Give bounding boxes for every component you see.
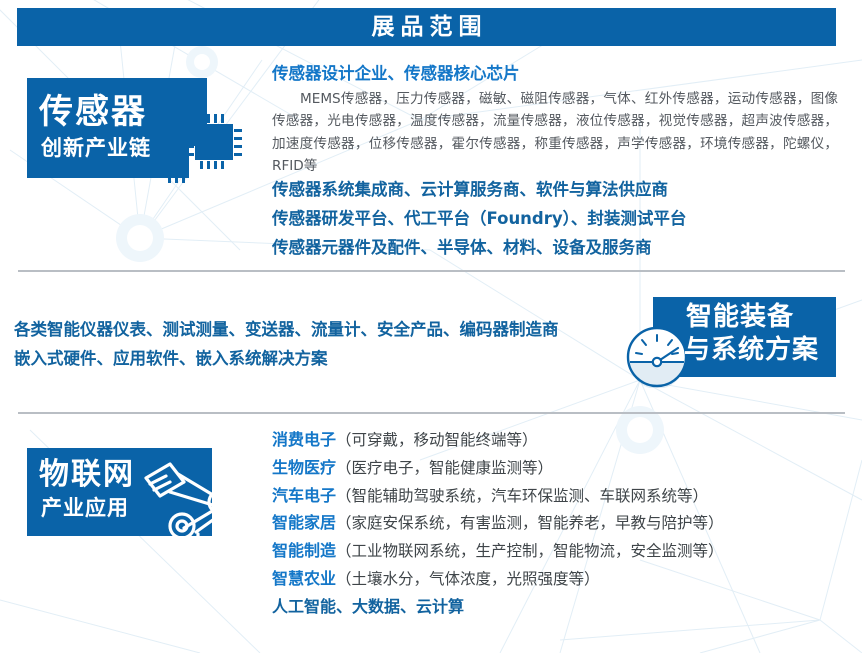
iot-item-1-category: 生物医疗 [272, 458, 336, 477]
sensor-section-paragraph-wrap: MEMS传感器，压力传感器，磁敏、磁阻传感器，气体、红外传感器，运动传感器，图像… [272, 88, 838, 177]
iot-item-3-detail: （家庭安保系统，有害监测，智能养老，早教与陪护等） [336, 514, 724, 532]
badge-sensor-line2: 创新产业链 [41, 138, 151, 159]
iot-item-1: 生物医疗（医疗电子，智能健康监测等） [272, 456, 724, 481]
iot-section-lines: 消费电子（可穿戴，移动智能终端等） 生物医疗（医疗电子，智能健康监测等） 汽车电… [272, 428, 724, 623]
iot-item-0-detail: （可穿戴，移动智能终端等） [336, 431, 538, 449]
section-divider-2 [18, 412, 845, 414]
gauge-icon [626, 326, 688, 393]
badge-equipment-line2: 与系统方案 [684, 337, 819, 363]
iot-item-1-detail: （医疗电子，智能健康监测等） [336, 459, 553, 477]
page-header-bar: 展品范围 [17, 8, 836, 46]
sensor-line-2: 传感器研发平台、代工平台（Foundry）、封装测试平台 [272, 207, 686, 232]
iot-item-2-category: 汽车电子 [272, 486, 336, 505]
iot-item-2-detail: （智能辅助驾驶系统，汽车环保监测、车联网系统等） [336, 487, 708, 505]
equipment-line-1: 各类智能仪器仪表、测试测量、变送器、流量计、安全产品、编码器制造商 [14, 318, 559, 343]
sensor-line-3: 传感器元器件及配件、半导体、材料、设备及服务商 [272, 236, 686, 261]
page-title: 展品范围 [366, 16, 488, 39]
badge-iot-line2: 产业应用 [41, 498, 129, 519]
iot-item-5-detail: （土壤水分，气体浓度，光照强度等） [336, 570, 600, 588]
iot-item-3-category: 智能家居 [272, 513, 336, 532]
badge-sensor: 传感器 创新产业链 [27, 78, 247, 183]
badge-iot: 物联网 产业应用 [27, 448, 242, 553]
microchip-icon [159, 106, 245, 189]
sensor-section-heading: 传感器设计企业、传感器核心芯片 [272, 62, 520, 86]
badge-equipment-line1: 智能装备 [686, 304, 794, 330]
equipment-section-lines: 各类智能仪器仪表、测试测量、变送器、流量计、安全产品、编码器制造商 嵌入式硬件、… [14, 318, 559, 376]
exhibit-scope-poster: 展品范围 [0, 0, 862, 653]
sensor-section-heading-wrap: 传感器设计企业、传感器核心芯片 [272, 62, 520, 86]
iot-item-4-category: 智能制造 [272, 541, 336, 560]
iot-item-4: 智能制造（工业物联网系统，生产控制，智能物流，安全监测等） [272, 539, 724, 564]
iot-item-5: 智慧农业（土壤水分，气体浓度，光照强度等） [272, 567, 724, 592]
badge-equipment: 智能装备 与系统方案 [626, 290, 841, 390]
robot-arm-icon [140, 454, 240, 554]
section-divider-1 [18, 270, 845, 272]
iot-item-0: 消费电子（可穿戴，移动智能终端等） [272, 428, 724, 453]
iot-item-6-category: 人工智能、大数据、云计算 [272, 597, 464, 616]
iot-item-4-detail: （工业物联网系统，生产控制，智能物流，安全监测等） [336, 542, 724, 560]
equipment-line-2: 嵌入式硬件、应用软件、嵌入系统解决方案 [14, 347, 559, 372]
sensor-section-paragraph: MEMS传感器，压力传感器，磁敏、磁阻传感器，气体、红外传感器，运动传感器，图像… [272, 88, 838, 177]
iot-item-0-category: 消费电子 [272, 430, 336, 449]
iot-item-6: 人工智能、大数据、云计算 [272, 595, 724, 620]
sensor-line-1: 传感器系统集成商、云计算服务商、软件与算法供应商 [272, 178, 686, 203]
sensor-section-lines: 传感器系统集成商、云计算服务商、软件与算法供应商 传感器研发平台、代工平台（Fo… [272, 178, 686, 264]
iot-item-5-category: 智慧农业 [272, 569, 336, 588]
badge-sensor-line1: 传感器 [39, 95, 147, 129]
badge-iot-line1: 物联网 [39, 460, 135, 490]
iot-item-3: 智能家居（家庭安保系统，有害监测，智能养老，早教与陪护等） [272, 511, 724, 536]
iot-item-2: 汽车电子（智能辅助驾驶系统，汽车环保监测、车联网系统等） [272, 484, 724, 509]
